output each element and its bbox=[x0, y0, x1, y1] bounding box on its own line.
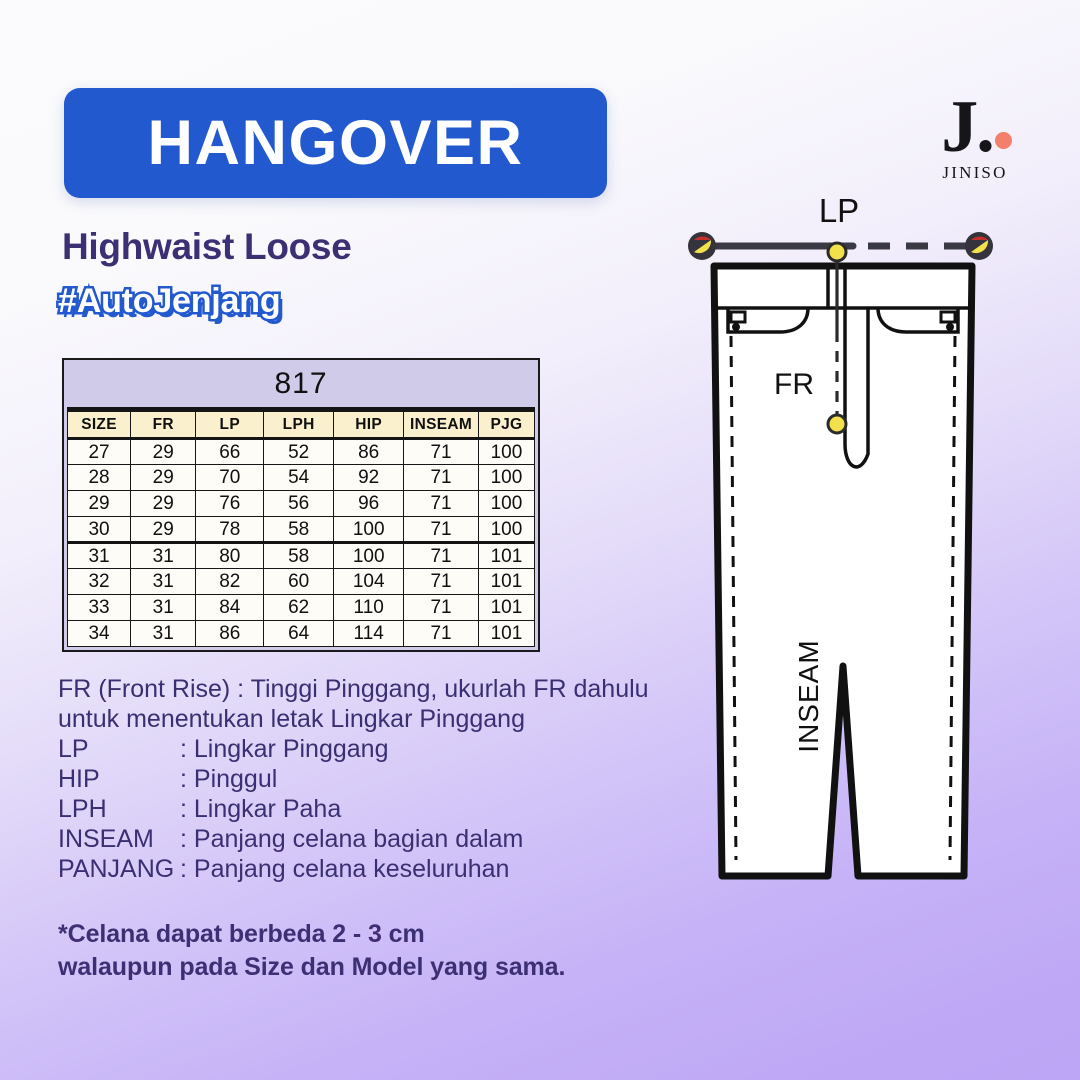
size-table-col-lp: LP bbox=[196, 412, 264, 439]
cell-fr: 29 bbox=[131, 517, 196, 543]
fr-marker-bottom-icon bbox=[828, 415, 846, 433]
table-row: 3231826010471101 bbox=[68, 569, 535, 595]
cell-pjg: 100 bbox=[478, 439, 534, 465]
cell-lph: 54 bbox=[264, 465, 334, 491]
table-row: 292976569671100 bbox=[68, 491, 535, 517]
legend-item: LPH: Lingkar Paha bbox=[58, 794, 698, 824]
cell-size: 34 bbox=[68, 621, 131, 647]
logo-mark: J. bbox=[920, 96, 1030, 158]
legend-item-value: : Lingkar Paha bbox=[180, 794, 698, 824]
cell-lp: 80 bbox=[196, 543, 264, 569]
cell-fr: 31 bbox=[131, 621, 196, 647]
size-table-header-row: SIZEFRLPLPHHIPINSEAMPJG bbox=[68, 412, 535, 439]
campaign-hashtag: #AutoJenjang bbox=[58, 284, 280, 318]
legend-item-key: HIP bbox=[58, 764, 180, 794]
cell-hip: 96 bbox=[334, 491, 404, 517]
size-table-head: SIZEFRLPLPHHIPINSEAMPJG bbox=[68, 412, 535, 439]
cell-lph: 56 bbox=[264, 491, 334, 517]
size-table-col-fr: FR bbox=[131, 412, 196, 439]
size-table-col-lph: LPH bbox=[264, 412, 334, 439]
cell-pjg: 101 bbox=[478, 569, 534, 595]
pants-outline bbox=[714, 266, 972, 876]
cell-lp: 66 bbox=[196, 439, 264, 465]
fr-marker-top-icon bbox=[828, 243, 846, 261]
size-disclaimer: *Celana dapat berbeda 2 - 3 cm walaupun … bbox=[58, 918, 565, 984]
cell-size: 33 bbox=[68, 595, 131, 621]
legend-item: INSEAM: Panjang celana bagian dalam bbox=[58, 824, 698, 854]
cell-hip: 100 bbox=[334, 543, 404, 569]
legend-item-value: : Pinggul bbox=[180, 764, 698, 794]
legend-item: PANJANG: Panjang celana keseluruhan bbox=[58, 854, 698, 884]
brand-badge: HANGOVER bbox=[64, 88, 607, 198]
jiniso-logo: J. JINISO bbox=[920, 96, 1030, 183]
cell-lph: 58 bbox=[264, 517, 334, 543]
table-row: 3131805810071101 bbox=[68, 543, 535, 569]
cell-pjg: 101 bbox=[478, 543, 534, 569]
legend-item-key: INSEAM bbox=[58, 824, 180, 854]
tape-end-right-icon bbox=[965, 232, 993, 260]
measurement-legend: FR (Front Rise) : Tinggi Pinggang, ukurl… bbox=[58, 674, 698, 884]
table-row: 3331846211071101 bbox=[68, 595, 535, 621]
cell-inseam: 71 bbox=[404, 595, 479, 621]
cell-size: 30 bbox=[68, 517, 131, 543]
cell-inseam: 71 bbox=[404, 491, 479, 517]
cell-lp: 84 bbox=[196, 595, 264, 621]
cell-pjg: 100 bbox=[478, 491, 534, 517]
cell-lph: 58 bbox=[264, 543, 334, 569]
logo-letter-j: J. bbox=[941, 86, 993, 168]
cell-size: 28 bbox=[68, 465, 131, 491]
cell-inseam: 71 bbox=[404, 543, 479, 569]
table-row: 272966528671100 bbox=[68, 439, 535, 465]
cell-fr: 31 bbox=[131, 569, 196, 595]
brand-badge-label: HANGOVER bbox=[147, 112, 523, 175]
size-table: SIZEFRLPLPHHIPINSEAMPJG 2729665286711002… bbox=[67, 411, 535, 647]
size-table-col-pjg: PJG bbox=[478, 412, 534, 439]
legend-rows: LP: Lingkar PinggangHIP: PinggulLPH: Lin… bbox=[58, 734, 698, 884]
cell-hip: 110 bbox=[334, 595, 404, 621]
cell-inseam: 71 bbox=[404, 569, 479, 595]
size-table-col-hip: HIP bbox=[334, 412, 404, 439]
table-row: 282970549271100 bbox=[68, 465, 535, 491]
size-table-body: 2729665286711002829705492711002929765696… bbox=[68, 439, 535, 647]
cell-inseam: 71 bbox=[404, 621, 479, 647]
cell-lph: 60 bbox=[264, 569, 334, 595]
cell-fr: 29 bbox=[131, 439, 196, 465]
cell-size: 27 bbox=[68, 439, 131, 465]
logo-dot-icon bbox=[995, 132, 1012, 149]
cell-lp: 70 bbox=[196, 465, 264, 491]
legend-item: HIP: Pinggul bbox=[58, 764, 698, 794]
cell-pjg: 100 bbox=[478, 517, 534, 543]
cell-lp: 76 bbox=[196, 491, 264, 517]
cell-inseam: 71 bbox=[404, 517, 479, 543]
cell-size: 31 bbox=[68, 543, 131, 569]
cell-inseam: 71 bbox=[404, 439, 479, 465]
cell-hip: 92 bbox=[334, 465, 404, 491]
cell-lp: 82 bbox=[196, 569, 264, 595]
cell-lph: 52 bbox=[264, 439, 334, 465]
product-subtitle: Highwaist Loose bbox=[62, 228, 351, 265]
diagram-label-inseam: INSEAM bbox=[793, 639, 824, 752]
cell-hip: 104 bbox=[334, 569, 404, 595]
cell-hip: 86 bbox=[334, 439, 404, 465]
legend-item-key: LP bbox=[58, 734, 180, 764]
cell-lp: 78 bbox=[196, 517, 264, 543]
cell-hip: 100 bbox=[334, 517, 404, 543]
legend-item-key: PANJANG bbox=[58, 854, 180, 884]
cell-lph: 64 bbox=[264, 621, 334, 647]
size-table-col-size: SIZE bbox=[68, 412, 131, 439]
legend-item-value: : Lingkar Pinggang bbox=[180, 734, 698, 764]
table-row: 3029785810071100 bbox=[68, 517, 535, 543]
cell-fr: 31 bbox=[131, 595, 196, 621]
cell-hip: 114 bbox=[334, 621, 404, 647]
cell-pjg: 101 bbox=[478, 621, 534, 647]
size-chart-poster: HANGOVER Highwaist Loose #AutoJenjang J.… bbox=[0, 0, 1080, 1080]
cell-fr: 29 bbox=[131, 491, 196, 517]
cell-inseam: 71 bbox=[404, 465, 479, 491]
size-table-container: 817 SIZEFRLPLPHHIPINSEAMPJG 272966528671… bbox=[62, 358, 540, 652]
legend-item-value: : Panjang celana bagian dalam bbox=[180, 824, 698, 854]
pants-measurement-diagram: LP FR INSEAM bbox=[668, 196, 1018, 896]
disclaimer-line-2: walaupun pada Size dan Model yang sama. bbox=[58, 951, 565, 984]
cell-size: 29 bbox=[68, 491, 131, 517]
size-table-col-inseam: INSEAM bbox=[404, 412, 479, 439]
size-table-title: 817 bbox=[67, 363, 535, 411]
legend-item: LP: Lingkar Pinggang bbox=[58, 734, 698, 764]
cell-lph: 62 bbox=[264, 595, 334, 621]
cell-fr: 31 bbox=[131, 543, 196, 569]
diagram-label-lp: LP bbox=[819, 196, 859, 229]
cell-fr: 29 bbox=[131, 465, 196, 491]
disclaimer-line-1: *Celana dapat berbeda 2 - 3 cm bbox=[58, 918, 565, 951]
legend-item-value: : Panjang celana keseluruhan bbox=[180, 854, 698, 884]
legend-fr-description: FR (Front Rise) : Tinggi Pinggang, ukurl… bbox=[58, 674, 698, 734]
diagram-label-fr: FR bbox=[774, 368, 814, 401]
cell-pjg: 100 bbox=[478, 465, 534, 491]
tape-end-left-icon bbox=[688, 232, 716, 260]
table-row: 3431866411471101 bbox=[68, 621, 535, 647]
cell-size: 32 bbox=[68, 569, 131, 595]
cell-lp: 86 bbox=[196, 621, 264, 647]
cell-pjg: 101 bbox=[478, 595, 534, 621]
legend-item-key: LPH bbox=[58, 794, 180, 824]
